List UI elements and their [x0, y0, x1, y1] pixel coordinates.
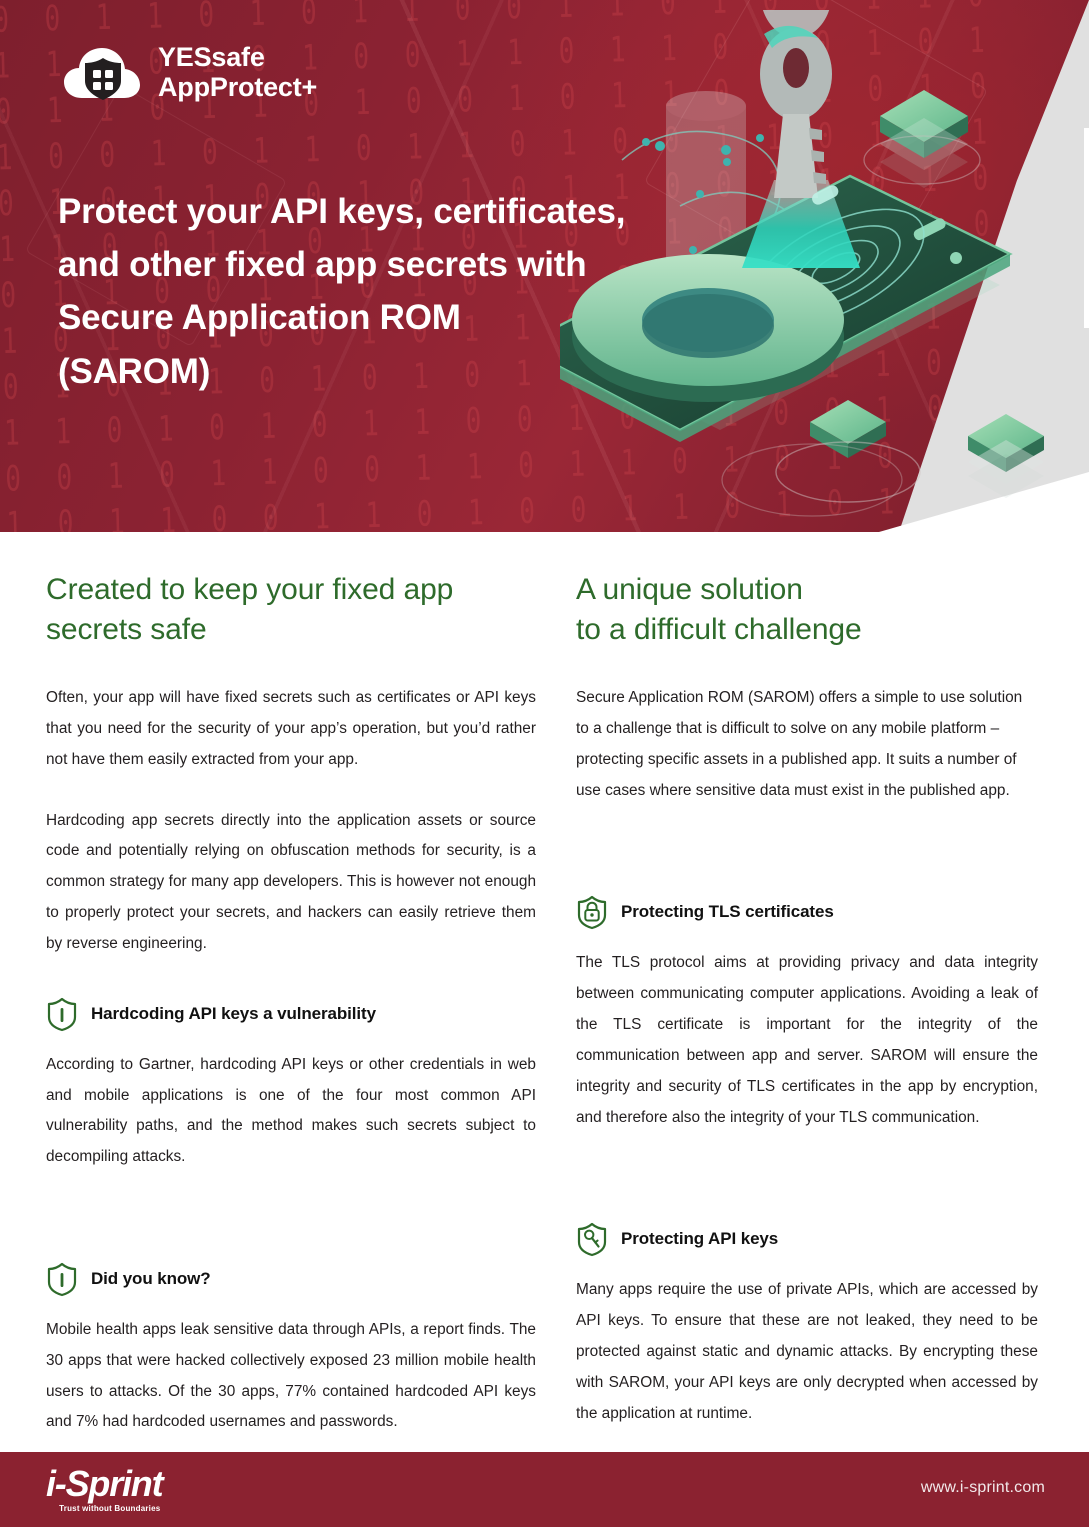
- left-column-heading: Created to keep your fixed app secrets s…: [46, 570, 536, 649]
- right-column: A unique solution to a difficult challen…: [576, 570, 1038, 1429]
- right-heading-line-1: A unique solution: [576, 570, 1038, 610]
- brand-wordmark: YESsafe AppProtect+: [158, 42, 317, 102]
- shield-key-icon: [576, 1221, 608, 1257]
- subsection-did-you-know-body: Mobile health apps leak sensitive data t…: [46, 1315, 536, 1438]
- isprint-tagline: Trust without Boundaries: [46, 1504, 162, 1513]
- right-column-heading: A unique solution to a difficult challen…: [576, 570, 1038, 649]
- page-footer: i-Sprint Trust without Boundaries www.i-…: [0, 1452, 1089, 1527]
- isprint-wordmark: i-Sprint: [46, 1466, 162, 1502]
- brand-logo: YESsafe AppProtect+: [62, 38, 317, 106]
- right-paragraph-1: Secure Application ROM (SAROM) offers a …: [576, 683, 1038, 806]
- subsection-title: Did you know?: [91, 1269, 211, 1289]
- subsection-protecting-tls-header: Protecting TLS certificates: [576, 894, 1038, 930]
- footer-website-url[interactable]: www.i-sprint.com: [921, 1479, 1045, 1497]
- hero-title-line-4: (SAROM): [58, 345, 658, 398]
- subsection-title: Hardcoding API keys a vulnerability: [91, 1004, 376, 1024]
- subsection-protecting-tls-body: The TLS protocol aims at providing priva…: [576, 948, 1038, 1133]
- shield-alert-icon: [46, 996, 78, 1032]
- subsection-did-you-know-header: Did you know?: [46, 1261, 536, 1297]
- subsection-hardcoding-api-keys-header: Hardcoding API keys a vulnerability: [46, 996, 536, 1032]
- isprint-logo: i-Sprint Trust without Boundaries: [46, 1466, 162, 1513]
- subsection-protecting-api-keys-body: Many apps require the use of private API…: [576, 1275, 1038, 1429]
- subsection-hardcoding-api-keys-body: According to Gartner, hardcoding API key…: [46, 1050, 536, 1173]
- subsection-title: Protecting API keys: [621, 1229, 778, 1249]
- left-heading-line-2: secrets safe: [46, 610, 536, 650]
- spacer: [46, 1203, 536, 1225]
- shield-alert-icon: [46, 1261, 78, 1297]
- left-heading-line-1: Created to keep your fixed app: [46, 570, 536, 610]
- subsection-protecting-api-keys-header: Protecting API keys: [576, 1221, 1038, 1257]
- cloud-shield-icon: [62, 38, 144, 106]
- brand-line-1: YESsafe: [158, 42, 317, 72]
- right-heading-line-2: to a difficult challenge: [576, 610, 1038, 650]
- spacer: [576, 836, 1038, 858]
- hero-title-line-3: Secure Application ROM: [58, 291, 658, 344]
- left-column: Created to keep your fixed app secrets s…: [46, 570, 536, 1438]
- spacer: [576, 1163, 1038, 1185]
- subsection-title: Protecting TLS certificates: [621, 902, 834, 922]
- hero-title: Protect your API keys, certificates, and…: [58, 185, 658, 398]
- brand-line-2: AppProtect+: [158, 72, 317, 102]
- left-paragraph-2: Hardcoding app secrets directly into the…: [46, 806, 536, 960]
- content-area: Created to keep your fixed app secrets s…: [0, 532, 1089, 1452]
- hero-title-line-1: Protect your API keys, certificates,: [58, 185, 658, 238]
- left-paragraph-1: Often, your app will have fixed secrets …: [46, 683, 536, 775]
- hero-banner: 0 1 0 0 1 1 0 1 0 0 1 1 0 1 0 1 0 0 1 1 …: [0, 0, 1089, 532]
- hero-title-line-2: and other fixed app secrets with: [58, 238, 658, 291]
- shield-lock-icon: [576, 894, 608, 930]
